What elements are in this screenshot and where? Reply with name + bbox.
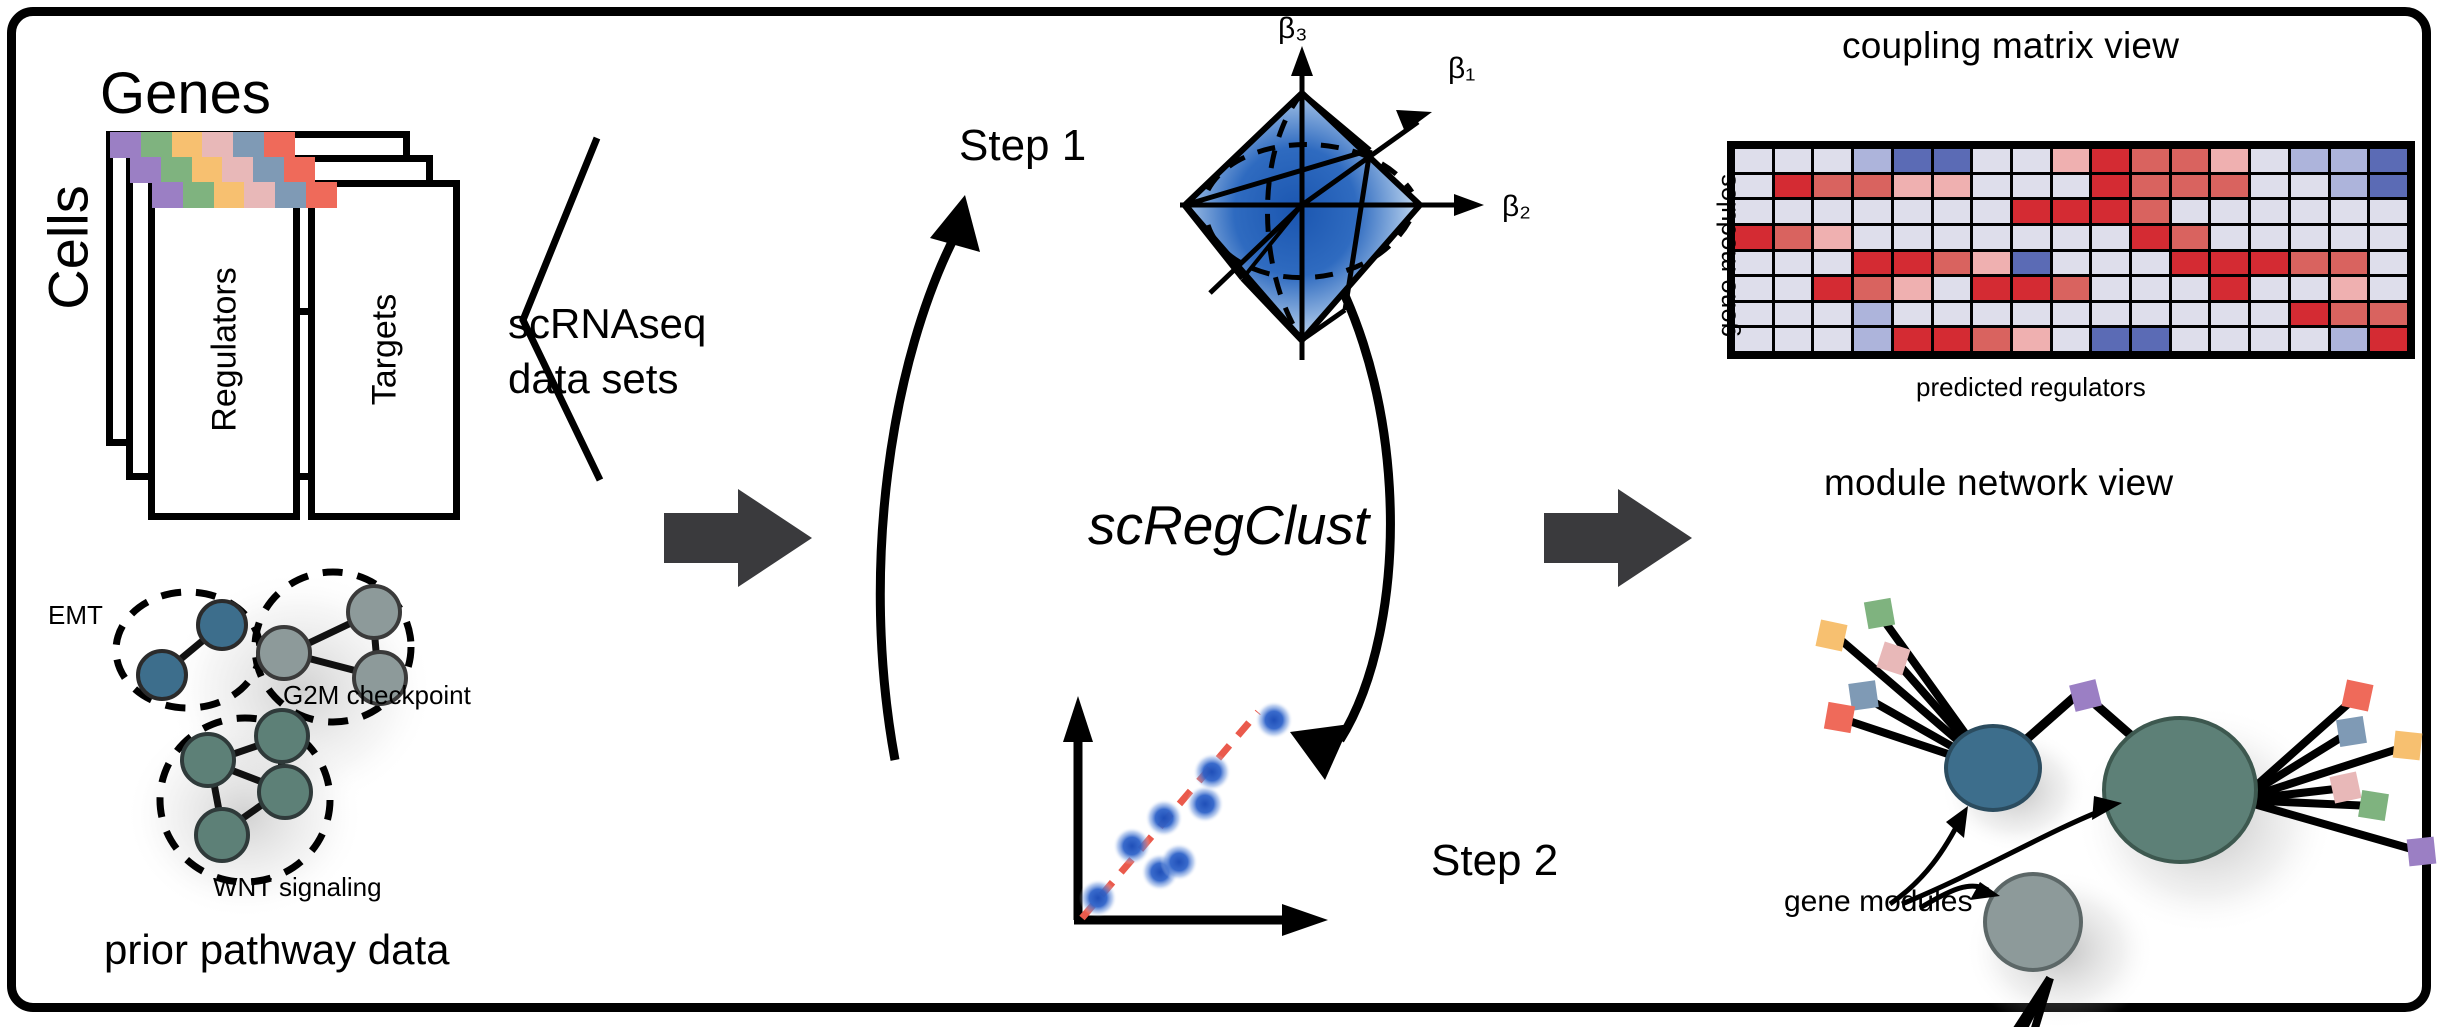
pathway-node	[259, 766, 311, 818]
heatmap-cell	[1894, 149, 1931, 172]
heatmap-cell	[2132, 175, 2169, 198]
pathway-node	[256, 710, 308, 762]
heatmap-cell	[1973, 328, 2010, 351]
heatmap-cell	[1894, 175, 1931, 198]
heatmap-cell	[2251, 175, 2288, 198]
scatter-point	[1145, 799, 1183, 837]
figure-canvas: Cells Genes Regulators Targets scRNAseq …	[0, 0, 2446, 1027]
strip-cell	[253, 157, 284, 183]
heatmap-cell	[2053, 149, 2090, 172]
heatmap-cell	[2172, 226, 2209, 249]
axis-label-beta2: β₂	[1502, 190, 1531, 224]
heatmap-cell	[2331, 328, 2368, 351]
heatmap-cell	[2370, 252, 2407, 275]
heatmap-cell	[2291, 328, 2328, 351]
heatmap-cell	[2132, 149, 2169, 172]
heatmap-cell	[2251, 252, 2288, 275]
heatmap-cell	[1894, 252, 1931, 275]
heatmap-cell	[2053, 252, 2090, 275]
regulator-square	[2336, 716, 2367, 747]
heatmap-cell	[1854, 226, 1891, 249]
heatmap-cell	[2172, 175, 2209, 198]
heatmap-cell	[1934, 226, 1971, 249]
pathway-node	[138, 651, 186, 699]
regulator-square	[1815, 619, 1847, 651]
heatmap-cell	[2053, 328, 2090, 351]
heatmap-cell	[1894, 303, 1931, 326]
heatmap-cell	[1854, 303, 1891, 326]
coupling-matrix-title: coupling matrix view	[1842, 25, 2179, 67]
heatmap-cell	[2132, 277, 2169, 300]
regulator-square	[1864, 598, 1895, 629]
regulator-color-strip-mid	[130, 157, 315, 183]
heatmap-cell	[2331, 175, 2368, 198]
heatmap-cell	[2251, 303, 2288, 326]
pathway-node	[182, 734, 234, 786]
heatmap-cell	[1814, 328, 1851, 351]
strip-cell	[264, 132, 295, 158]
heatmap-cell	[2291, 200, 2328, 223]
strip-cell	[222, 157, 253, 183]
heatmap-cell	[1934, 149, 1971, 172]
cluster-label-g2m: G2M checkpoint	[283, 680, 471, 711]
pathway-node	[198, 601, 246, 649]
prior-panel-caption: prior pathway data	[104, 926, 450, 974]
scatter-point	[1079, 879, 1117, 917]
scatter-point	[1186, 785, 1224, 823]
heatmap-cell	[2331, 277, 2368, 300]
heatmap-cell	[2013, 252, 2050, 275]
heatmap-cell	[2092, 252, 2129, 275]
step2-scatter-plot	[1040, 670, 1440, 970]
annotation-gene-modules: gene modules	[1784, 885, 1972, 919]
step1-label: Step 1	[959, 121, 1086, 171]
heatmap-cell	[2331, 303, 2368, 326]
heatmap-cell	[1934, 303, 1971, 326]
heatmap-cell	[2013, 175, 2050, 198]
heatmap-cell	[1775, 149, 1812, 172]
heatmap-cell	[1814, 226, 1851, 249]
regulator-color-strip-back	[110, 132, 295, 158]
module-node-blue	[1946, 726, 2040, 810]
heatmap-cell	[2370, 175, 2407, 198]
pathway-node	[258, 627, 310, 679]
heatmap-cell	[2132, 328, 2169, 351]
module-node-gray	[1985, 874, 2081, 970]
bracket-label-line1: scRNAseq	[508, 300, 706, 348]
strip-cell	[275, 182, 306, 208]
heatmap-cell	[2331, 149, 2368, 172]
scatter-point	[1193, 753, 1231, 791]
heatmap-cell	[2370, 149, 2407, 172]
regulator-square	[2393, 731, 2423, 761]
strip-cell	[130, 157, 161, 183]
heatmap-cell	[1934, 252, 1971, 275]
heatmap-cell	[1854, 252, 1891, 275]
heatmap-cell	[2092, 277, 2129, 300]
heatmap-cell	[2053, 200, 2090, 223]
heatmap-cell	[2053, 303, 2090, 326]
block-arrow-icon	[660, 485, 820, 595]
strip-cell	[172, 132, 203, 158]
regulator-square	[2358, 790, 2389, 821]
heatmap-cell	[2251, 226, 2288, 249]
prior-pathway-network	[40, 550, 560, 910]
heatmap-cell	[2132, 226, 2169, 249]
strip-cell	[214, 182, 245, 208]
strip-cell	[161, 157, 192, 183]
heatmap-cell	[1973, 303, 2010, 326]
strip-cell	[233, 132, 264, 158]
strip-cell	[202, 132, 233, 158]
heatmap-cell	[2013, 200, 2050, 223]
strip-cell	[141, 132, 172, 158]
module-network-graph	[1750, 500, 2446, 1020]
heatmap-cell	[2211, 226, 2248, 249]
scatter-point	[1113, 827, 1151, 865]
method-name: scRegClust	[1088, 493, 1369, 557]
heatmap-cell	[1934, 328, 1971, 351]
pathway-node	[348, 586, 400, 638]
heatmap-cell	[1973, 149, 2010, 172]
heatmap-cell	[1894, 328, 1931, 351]
heatmap-cell	[2132, 252, 2169, 275]
axis-label-beta3: β₃	[1278, 12, 1307, 46]
strip-cell	[110, 132, 141, 158]
heatmap-cell	[2211, 277, 2248, 300]
heatmap-cell	[2211, 175, 2248, 198]
heatmap-cell	[2132, 303, 2169, 326]
heatmap-cell	[1934, 175, 1971, 198]
heatmap-cell	[2013, 149, 2050, 172]
heatmap-cell	[1814, 303, 1851, 326]
heatmap-cell	[1854, 149, 1891, 172]
heatmap-cell	[2291, 277, 2328, 300]
heatmap-cell	[1814, 149, 1851, 172]
heatmap-cell	[2172, 277, 2209, 300]
heatmap-cell	[1775, 175, 1812, 198]
heatmap-cell	[2370, 226, 2407, 249]
heatmap-cell	[2291, 175, 2328, 198]
heatmap-cell	[1814, 200, 1851, 223]
heatmap-cell	[2370, 303, 2407, 326]
heatmap-cell	[2013, 277, 2050, 300]
heatmap-cell	[2370, 328, 2407, 351]
heatmap-cell	[2251, 149, 2288, 172]
bracket-label-line2: data sets	[508, 355, 678, 403]
heatmap-cell	[1854, 328, 1891, 351]
block-label-regulators: Regulators	[206, 230, 245, 470]
axis-label-cells: Cells	[36, 158, 101, 338]
heatmap-cell	[1775, 277, 1812, 300]
module-network-title: module network view	[1824, 462, 2173, 504]
heatmap-cell	[2092, 226, 2129, 249]
heatmap-cell	[2053, 175, 2090, 198]
step2-label: Step 2	[1431, 836, 1558, 886]
heatmap-cell	[2053, 277, 2090, 300]
axis-label-beta1: β₁	[1448, 52, 1475, 86]
heatmap-cell	[2013, 328, 2050, 351]
heatmap-cell	[1894, 200, 1931, 223]
heatmap-cell	[1894, 226, 1931, 249]
module-node-green	[2104, 718, 2256, 862]
block-label-targets: Targets	[366, 230, 405, 470]
heatmap-cell	[1854, 175, 1891, 198]
strip-cell	[244, 182, 275, 208]
heatmap-cell	[2211, 303, 2248, 326]
heatmap-cell	[1973, 226, 2010, 249]
heatmap-cell	[1814, 175, 1851, 198]
heatmap-cell	[2172, 252, 2209, 275]
pathway-node	[196, 809, 248, 861]
heatmap-cell	[1973, 200, 2010, 223]
heatmap-cell	[1775, 252, 1812, 275]
scatter-point	[1255, 701, 1293, 739]
coupling-matrix-xlabel: predicted regulators	[1916, 372, 2146, 403]
heatmap-cell	[1775, 303, 1812, 326]
heatmap-cell	[2331, 226, 2368, 249]
heatmap-cell	[1894, 277, 1931, 300]
cluster-label-wnt: WNT signaling	[213, 872, 382, 903]
heatmap-cell	[2053, 226, 2090, 249]
heatmap-cell	[2370, 277, 2407, 300]
heatmap-cell	[2172, 328, 2209, 351]
heatmap-cell	[1775, 200, 1812, 223]
heatmap-cell	[2251, 200, 2288, 223]
heatmap-cell	[1854, 200, 1891, 223]
strip-cell	[192, 157, 223, 183]
regulator-square	[2407, 837, 2437, 867]
heatmap-cell	[2132, 200, 2169, 223]
heatmap-cell	[2172, 303, 2209, 326]
regulator-color-strip-front	[152, 182, 337, 208]
coupling-matrix-ylabel: gene modules	[1712, 146, 1743, 366]
regulator-square	[1824, 702, 1855, 733]
heatmap-cell	[2092, 303, 2129, 326]
heatmap-cell	[1814, 252, 1851, 275]
block-arrow-icon	[1540, 485, 1700, 595]
regulator-square	[2341, 679, 2373, 711]
heatmap-cell	[2013, 303, 2050, 326]
heatmap-cell	[2013, 226, 2050, 249]
heatmap-cell	[2331, 200, 2368, 223]
heatmap-cell	[2092, 200, 2129, 223]
heatmap-cell	[2211, 252, 2248, 275]
heatmap-cell	[2291, 226, 2328, 249]
heatmap-cell	[2172, 200, 2209, 223]
heatmap-cell	[2251, 328, 2288, 351]
heatmap-cell	[1973, 175, 2010, 198]
scatter-point	[1160, 843, 1198, 881]
heatmap-cell	[1775, 226, 1812, 249]
heatmap-cell	[2172, 149, 2209, 172]
heatmap-cell	[1814, 277, 1851, 300]
strip-cell	[284, 157, 315, 183]
cluster-label-emt: EMT	[48, 600, 103, 631]
strip-cell	[183, 182, 214, 208]
heatmap-cell	[2291, 149, 2328, 172]
strip-cell	[306, 182, 337, 208]
heatmap-cell	[1934, 200, 1971, 223]
heatmap-cell	[1973, 277, 2010, 300]
heatmap-cell	[2370, 200, 2407, 223]
heatmap-cell	[2291, 303, 2328, 326]
heatmap-cell	[2211, 328, 2248, 351]
heatmap-cell	[2211, 149, 2248, 172]
heatmap-cell	[2211, 200, 2248, 223]
coupling-matrix-heatmap	[1727, 141, 2415, 359]
heatmap-cell	[2251, 277, 2288, 300]
heatmap-cell	[2092, 328, 2129, 351]
heatmap-cell	[1973, 252, 2010, 275]
heatmap-cell	[1775, 328, 1812, 351]
heatmap-cell	[2092, 149, 2129, 172]
regulator-square	[2329, 771, 2361, 803]
strip-cell	[152, 182, 183, 208]
axis-label-genes: Genes	[100, 60, 271, 127]
heatmap-cell	[2291, 252, 2328, 275]
heatmap-cell	[1934, 277, 1971, 300]
heatmap-cell	[1854, 277, 1891, 300]
heatmap-cell	[2092, 175, 2129, 198]
heatmap-cell	[2331, 252, 2368, 275]
